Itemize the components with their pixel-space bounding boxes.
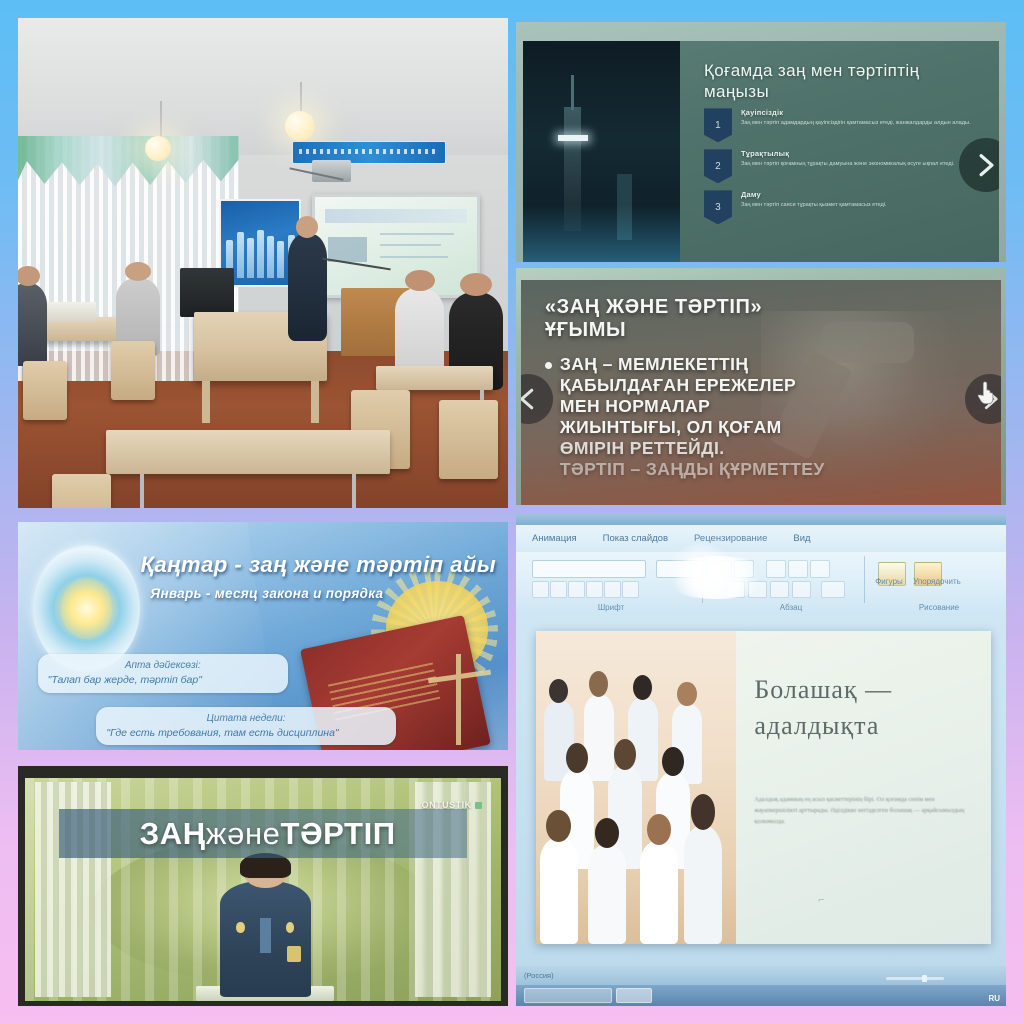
chevron-number-badge: 2 [704,149,732,183]
ribbon[interactable]: Шрифт Абзац Рисование Фигуры Упорядочить [516,552,1006,614]
chevron-number-badge: 1 [704,108,732,142]
taskbar-item[interactable] [616,988,652,1003]
broadcast-title: ЗАҢ және ТӘРТІП [63,809,472,858]
item-heading: Қауіпсіздік [741,108,984,117]
poster-title-ru: Январь - месяц закона и порядка [150,586,498,601]
student-desk [376,366,494,391]
poster-title-kk: Қаңтар - заң және тәртіп айы [141,552,499,578]
bullet-line: ТӘРТІП – ЗАҢДЫ ҚҰРМЕТТЕУ [560,459,825,480]
ribbon-tab-bar[interactable]: Анимация Показ слайдов Рецензирование Ви… [516,525,1006,553]
quote-text-kk: "Талап бар жерде, тәртіп бар" [48,674,202,686]
student [395,288,444,376]
slide-body-text[interactable]: Адалдық адамның ең асыл қасиеттерінің бі… [754,794,977,828]
student [18,283,47,366]
taskbar-language-indicator[interactable]: RU [988,994,1000,1003]
slide-item-list: 1 Қауіпсіздік Заң мен тәртіп адамдардың … [704,108,984,224]
slide-title-line1: Болашақ — [754,672,977,708]
group-label-paragraph: Абзац [731,603,851,612]
tab-slideshow[interactable]: Показ слайдов [603,533,668,544]
status-language[interactable]: (Россия) [524,971,554,980]
tab-review[interactable]: Рецензирование [694,533,767,544]
bold-button[interactable] [586,581,603,598]
channel-logo-text: ONTUSTIK [422,800,472,810]
chevron-number-badge: 3 [704,190,732,224]
title-bar [516,514,1006,525]
item-body: Заң мен тәртіп қоғамның тұрақты дамуына … [741,160,984,168]
logo-square-icon [475,802,482,809]
interactive-whiteboard [312,194,480,298]
status-bar: (Россия) [516,966,1006,986]
bullet-dot-icon [545,362,552,369]
foreground-desk [106,430,390,474]
item-body: Заң мен тәртіп адамдардың қауіпсіздігін … [741,119,984,127]
shrink-font-button[interactable] [550,581,567,598]
slide-title[interactable]: Болашақ — адалдықта [754,672,977,744]
title-part-3: ТӘРТІП [281,816,396,852]
chair [439,400,498,478]
title-part-2: және [206,816,281,852]
photo-collage: Қоғамда заң мен тәртіптің маңызы 1 Қауіп… [0,0,1024,1024]
bullet-block: ЗАҢ – МЕМЛЕКЕТТІҢ ҚАБЫЛДАҒАН ЕРЕЖЕЛЕР МЕ… [545,354,929,480]
slide-title-line2: адалдықта [754,708,977,744]
arrange-button-label[interactable]: Упорядочить [908,577,966,612]
chair [23,361,67,420]
quote-bubble-ru: Цитата недели: "Где есть требования, там… [96,707,395,746]
item-heading: Даму [741,190,984,199]
lamp-cord [160,101,162,140]
powerpoint-window-photo: Анимация Показ слайдов Рецензирование Ви… [516,514,1006,1006]
group-label-font: Шрифт [556,603,666,612]
align-text-button[interactable] [792,581,811,598]
tab-view[interactable]: Вид [793,533,810,544]
tv-broadcast-photo: ЗАҢ және ТӘРТІП ONTUSTIK [18,766,508,1006]
item-body: Заң мен тәртіп саяси тұрақты қызмет қамт… [741,201,984,209]
quote-label-kk: Апта дәйексөзі: [48,658,278,673]
bullet-line: ЖИЫНТЫҒЫ, ОЛ ҚОҒАМ [560,417,825,438]
chair [52,474,111,508]
slide-title-line1: «ЗАҢ ЖӘНЕ ТӘРТІП» [545,296,929,319]
quote-label-ru: Цитата недели: [106,711,385,726]
font-name-box[interactable] [532,560,646,578]
clear-format-button[interactable] [568,581,585,598]
list-item: 1 Қауіпсіздік Заң мен тәртіп адамдардың … [704,108,984,142]
quote-bubble-kk: Апта дәйексөзі: "Талап бар жерде, тәртіп… [38,654,288,693]
bullet-line: ҚАБЫЛДАҒАН ЕРЕЖЕЛЕР [560,375,825,396]
teacher [288,234,327,342]
bullet-line: ӨМІРІН РЕТТЕЙДІ. [560,438,825,459]
tab-animation[interactable]: Анимация [532,533,577,544]
taskbar-item[interactable] [524,988,612,1003]
list-item: 2 Тұрақтылық Заң мен тәртіп қоғамның тұр… [704,149,984,183]
taskbar[interactable]: RU [516,985,1006,1006]
slide-title: Қоғамда заң мен тәртіптің маңызы [704,60,984,102]
computer-monitor [180,268,234,317]
city-night-photo [523,41,680,262]
italic-button[interactable] [604,581,621,598]
projected-slide-importance: Қоғамда заң мен тәртіптің маңызы 1 Қауіп… [516,22,1006,262]
convert-smartart-button[interactable] [821,581,845,598]
projected-slide-concept: «ЗАҢ ЖӘНЕ ТӘРТІП» ҰҒЫМЫ ЗАҢ – МЕМЛЕКЕТТІ… [516,268,1006,505]
text-direction-button[interactable] [770,581,789,598]
current-slide[interactable]: Болашақ — адалдықта Адалдық адамның ең а… [536,631,992,943]
slide-editing-area[interactable]: Болашақ — адалдықта Адалдық адамның ең а… [516,614,1006,986]
shapes-button-label[interactable]: Фигуры [868,577,910,612]
scales-of-justice-icon [420,654,498,745]
bullet-line: МЕН НОРМАЛАР [560,396,825,417]
title-part-1: ЗАҢ [140,816,206,852]
bullet-line: ЗАҢ – МЕМЛЕКЕТТІҢ [560,354,825,375]
align-center-button[interactable] [788,560,808,578]
law-month-poster: Қаңтар - заң және тәртіп айы Январь - ме… [18,522,508,750]
slide-title-line2: ҰҒЫМЫ [545,319,929,342]
chair [111,341,155,400]
item-heading: Тұрақтылық [741,149,984,158]
classroom-photo [18,18,508,508]
list-item: 3 Даму Заң мен тәртіп саяси тұрақты қызм… [704,190,984,224]
grow-font-button[interactable] [532,581,549,598]
channel-logo: ONTUSTIK [422,800,482,810]
underline-button[interactable] [622,581,639,598]
text-caret: ⌐ [818,894,824,906]
quote-text-ru: "Где есть требования, там есть дисциплин… [106,727,338,739]
zoom-slider[interactable] [886,977,944,980]
align-right-button[interactable] [810,560,830,578]
crowd-illustration [536,631,737,943]
ceiling-lamp [145,136,170,161]
hand-cursor-icon [975,379,997,405]
news-anchor [220,881,310,997]
projector [312,160,351,182]
